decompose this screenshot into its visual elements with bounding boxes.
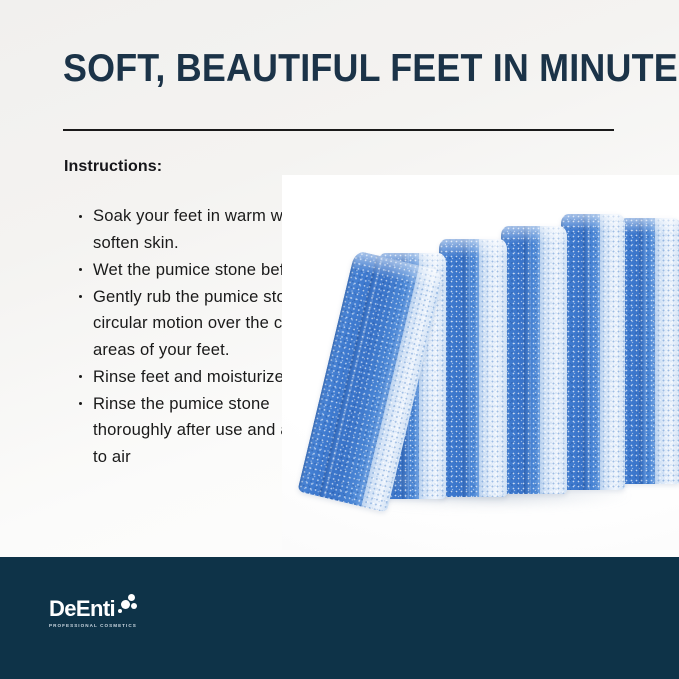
logo-wordmark: DeEnti <box>49 598 115 620</box>
logo-tagline: PROFESSIONAL COSMETICS <box>49 623 159 628</box>
bubble-dots-icon <box>117 594 143 616</box>
pumice-stone <box>501 226 567 494</box>
brand-logo: DeEnti PROFESSIONAL COSMETICS <box>49 598 159 628</box>
pumice-stone <box>561 214 625 490</box>
instruction-text: Rinse feet and moisturize. <box>93 367 289 386</box>
title-divider <box>63 129 614 131</box>
product-photo <box>282 175 679 550</box>
pumice-stone <box>439 239 507 497</box>
footer-band: DeEnti PROFESSIONAL COSMETICS <box>0 557 679 679</box>
pumice-stone <box>619 218 679 484</box>
product-infographic: SOFT, BEAUTIFUL FEET IN MINUTES Instruct… <box>0 0 679 679</box>
page-title: SOFT, BEAUTIFUL FEET IN MINUTES <box>63 47 578 91</box>
instructions-heading: Instructions: <box>64 158 162 176</box>
